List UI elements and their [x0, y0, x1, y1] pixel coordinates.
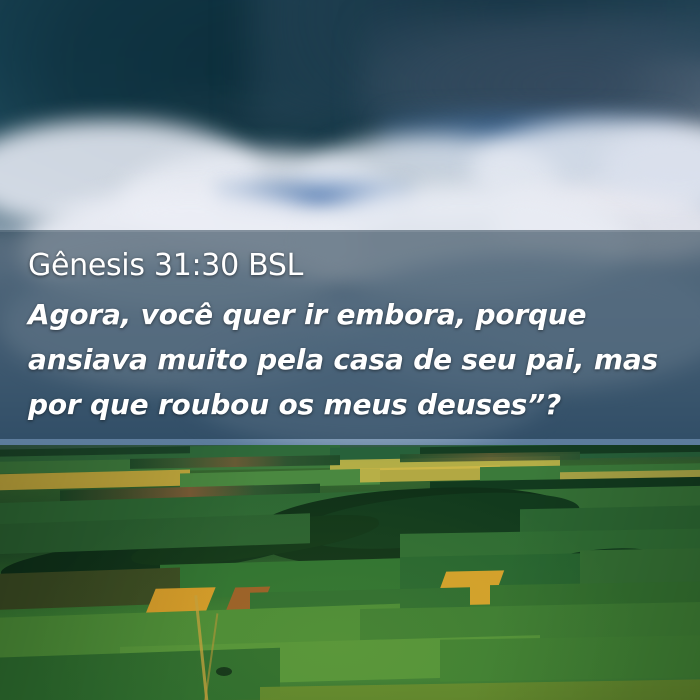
verse-line: Agora, você quer ir embora, porque	[28, 292, 676, 337]
overlay-top-divider	[0, 230, 700, 232]
land-shading	[0, 445, 700, 700]
verse-text: Agora, você quer ir embora, porque ansia…	[28, 292, 676, 427]
verse-line: ansiava muito pela casa de seu pai, mas	[28, 337, 676, 382]
verse-text-overlay: Gênesis 31:30 BSL Agora, você quer ir em…	[0, 230, 700, 439]
verse-line: por que roubou os meus deuses”?	[28, 382, 676, 427]
farmland-landscape	[0, 445, 700, 700]
verse-image-card: Gênesis 31:30 BSL Agora, você quer ir em…	[0, 0, 700, 700]
verse-reference: Gênesis 31:30 BSL	[28, 248, 676, 284]
